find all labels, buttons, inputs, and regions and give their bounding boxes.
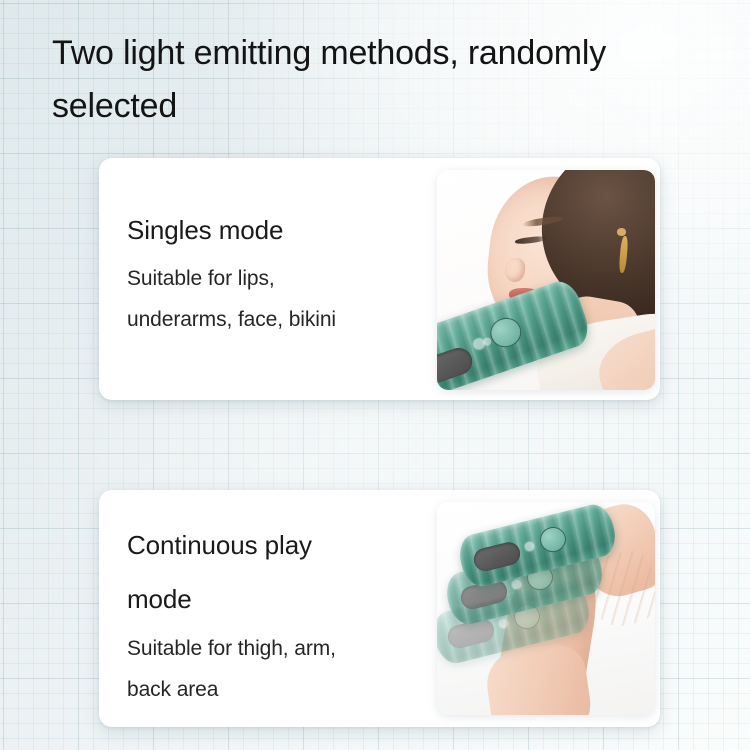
device-indicator-led: [498, 618, 509, 629]
card-text-block: Singles mode Suitable for lips, underarm…: [127, 213, 427, 340]
singles-mode-photo: Woman holding teal IPL hair removal devi…: [437, 170, 655, 390]
card-text-block: Continuous play mode Suitable for thigh,…: [127, 518, 427, 710]
device-light-window: [471, 540, 522, 574]
device-power-button: [537, 524, 569, 555]
continuous-play-mode-photo: Teal IPL device shown in motion with thr…: [437, 502, 655, 715]
device-indicator-led: [511, 580, 522, 591]
card-title: Singles mode: [127, 213, 427, 247]
mode-card-continuous-play: Continuous play mode Suitable for thigh,…: [99, 490, 660, 727]
device-indicator-led: [524, 541, 535, 552]
mode-card-singles: Singles mode Suitable for lips, underarm…: [99, 158, 660, 400]
card-title: Continuous play mode: [127, 518, 427, 626]
page-title: Two light emitting methods, randomly sel…: [52, 27, 724, 133]
device-power-button: [486, 314, 525, 352]
card-description: Suitable for thigh, arm, back area: [127, 628, 427, 710]
card-description: Suitable for lips, underarms, face, biki…: [127, 258, 427, 340]
device-light-window: [437, 345, 475, 390]
model-earring-stud: [617, 228, 627, 235]
